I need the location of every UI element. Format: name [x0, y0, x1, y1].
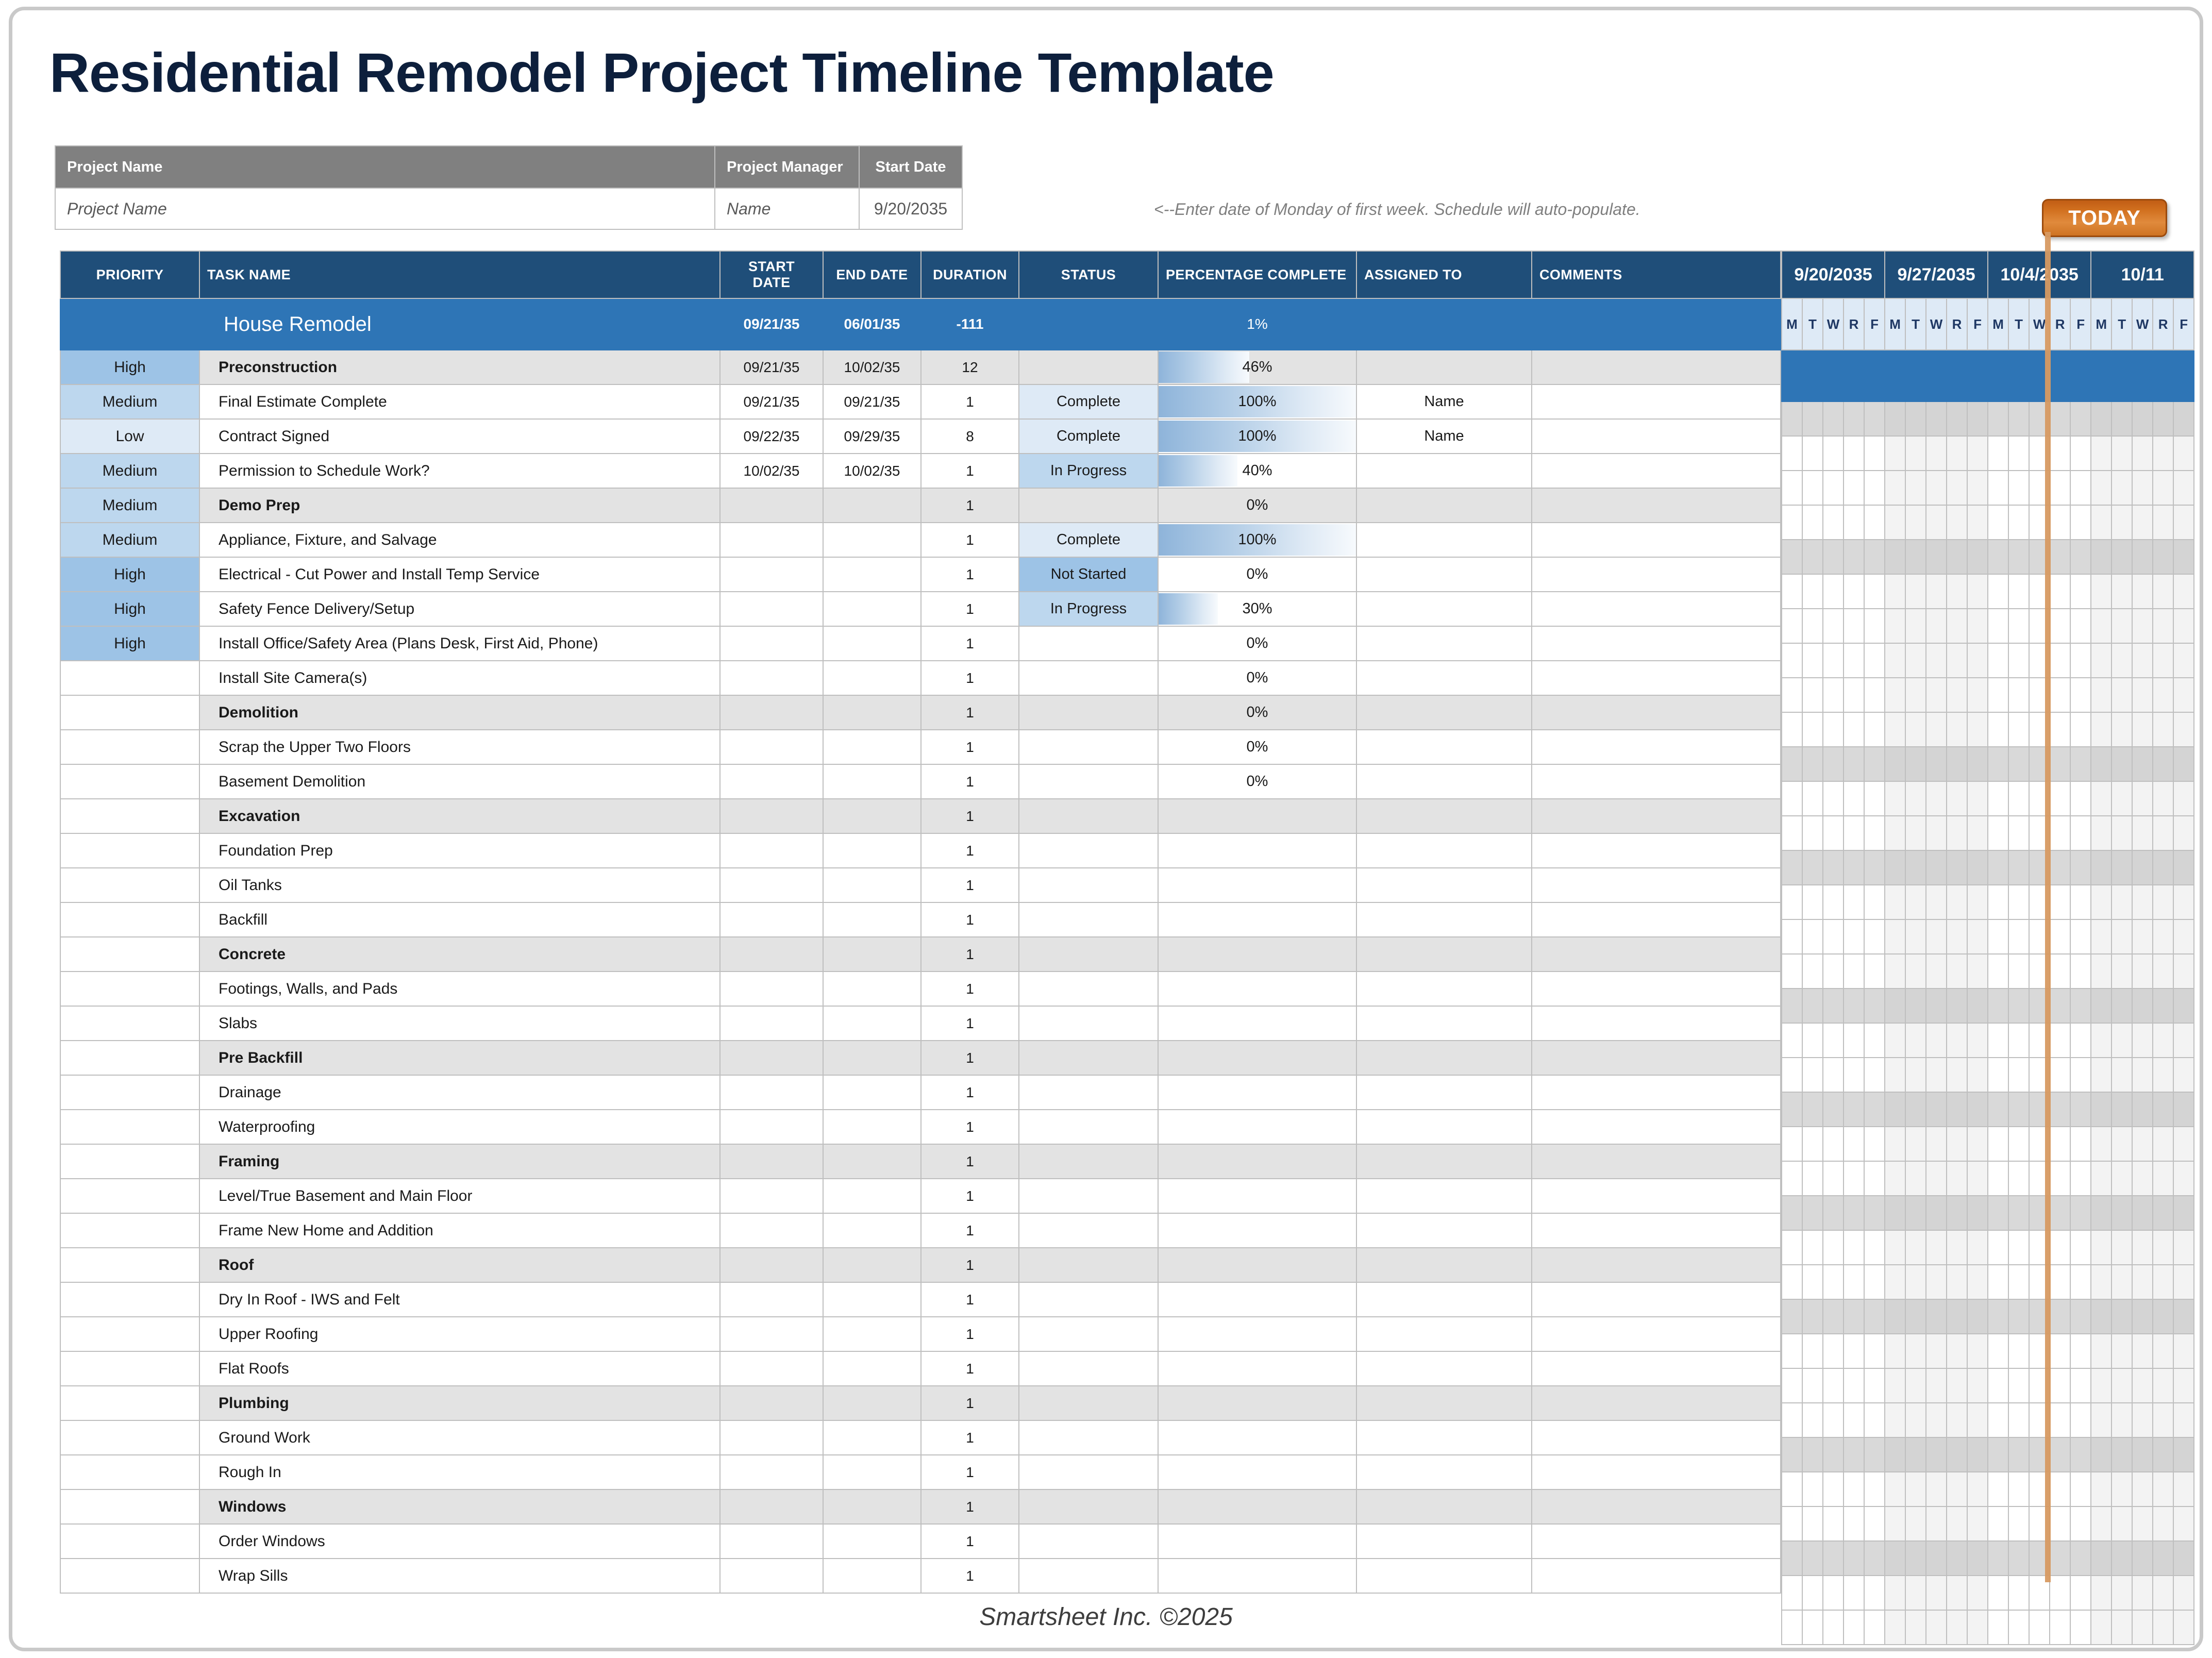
gantt-row[interactable]	[1782, 885, 2194, 919]
cell-percentage-complete[interactable]	[1158, 1248, 1356, 1282]
gantt-cell[interactable]	[2153, 1368, 2173, 1403]
gantt-cell[interactable]	[1905, 1058, 1926, 1092]
gantt-cell[interactable]	[1905, 712, 1926, 747]
cell-priority[interactable]	[60, 972, 199, 1006]
gantt-cell[interactable]	[2029, 954, 2050, 989]
gantt-cell[interactable]	[1885, 954, 1905, 989]
gantt-cell[interactable]	[2112, 1058, 2132, 1092]
gantt-cell[interactable]	[1844, 1196, 1864, 1230]
cell-end-date[interactable]	[823, 1213, 921, 1248]
cell-duration[interactable]: 1	[921, 1179, 1019, 1213]
gantt-cell[interactable]	[1823, 1506, 1844, 1541]
cell-status[interactable]	[1019, 868, 1158, 902]
gantt-cell[interactable]	[1947, 1334, 1967, 1368]
gantt-cell[interactable]	[1885, 1265, 1905, 1299]
gantt-cell[interactable]	[2008, 643, 2029, 678]
gantt-cell[interactable]	[1782, 436, 1802, 471]
gantt-cell[interactable]	[1864, 1403, 1885, 1437]
cell-duration[interactable]: 1	[921, 523, 1019, 557]
gantt-cell[interactable]	[1844, 471, 1864, 505]
gantt-cell[interactable]	[2132, 1161, 2153, 1196]
cell-status[interactable]	[1019, 350, 1158, 384]
gantt-cell[interactable]	[1885, 1299, 1905, 1334]
cell-percentage-complete[interactable]: 46%	[1158, 350, 1356, 384]
gantt-cell[interactable]	[1782, 885, 1802, 919]
cell-priority[interactable]	[60, 1075, 199, 1110]
gantt-cell[interactable]	[1782, 919, 1802, 954]
gantt-cell[interactable]	[1864, 1437, 1885, 1472]
gantt-cell[interactable]	[2153, 350, 2173, 401]
cell-end-date[interactable]: 10/02/35	[823, 454, 921, 488]
gantt-cell[interactable]	[1926, 1541, 1947, 1576]
gantt-cell[interactable]	[2029, 471, 2050, 505]
gantt-cell[interactable]	[2008, 954, 2029, 989]
gantt-cell[interactable]	[2132, 1472, 2153, 1506]
gantt-cell[interactable]	[2050, 350, 2070, 401]
cell-percentage-complete[interactable]	[1158, 1041, 1356, 1075]
gantt-cell[interactable]	[2173, 574, 2194, 609]
gantt-cell[interactable]	[1967, 1196, 1988, 1230]
gantt-cell[interactable]	[1926, 678, 1947, 712]
cell-assigned-to[interactable]	[1356, 937, 1532, 972]
gantt-cell[interactable]	[1802, 989, 1823, 1023]
cell-assigned-to[interactable]	[1356, 488, 1532, 523]
gantt-cell[interactable]	[1782, 954, 1802, 989]
gantt-cell[interactable]	[1967, 678, 1988, 712]
gantt-cell[interactable]	[1844, 574, 1864, 609]
gantt-cell[interactable]	[1988, 1092, 2008, 1127]
gantt-cell[interactable]	[1947, 471, 1967, 505]
gantt-cell[interactable]	[2132, 1230, 2153, 1265]
cell-percentage-complete[interactable]	[1158, 1006, 1356, 1041]
gantt-cell[interactable]	[1967, 1437, 1988, 1472]
gantt-cell[interactable]	[1926, 850, 1947, 885]
section-row[interactable]: Demolition10%	[60, 695, 1781, 730]
gantt-cell[interactable]	[1905, 1472, 1926, 1506]
gantt-cell[interactable]	[1823, 954, 1844, 989]
gantt-cell[interactable]	[2132, 919, 2153, 954]
gantt-cell[interactable]	[2070, 712, 2091, 747]
gantt-cell[interactable]	[1926, 1299, 1947, 1334]
cell-percentage-complete[interactable]: 100%	[1158, 384, 1356, 419]
gantt-cell[interactable]	[2050, 1334, 2070, 1368]
cell-duration[interactable]: 1	[921, 592, 1019, 626]
gantt-cell[interactable]	[2091, 1368, 2112, 1403]
gantt-row[interactable]	[1782, 1161, 2194, 1196]
gantt-cell[interactable]	[2029, 540, 2050, 574]
gantt-cell[interactable]	[2091, 401, 2112, 436]
gantt-cell[interactable]	[1864, 1161, 1885, 1196]
gantt-cell[interactable]	[2173, 1127, 2194, 1161]
cell-task-name[interactable]: Upper Roofing	[199, 1317, 720, 1351]
start-date-input[interactable]: 9/20/2035	[859, 188, 962, 229]
cell-status[interactable]	[1019, 1006, 1158, 1041]
cell-start-date[interactable]	[720, 1248, 823, 1282]
gantt-cell[interactable]	[1864, 1230, 1885, 1265]
cell-assigned-to[interactable]	[1356, 1317, 1532, 1351]
cell-task-name[interactable]: Install Office/Safety Area (Plans Desk, …	[199, 626, 720, 661]
gantt-cell[interactable]	[1823, 1437, 1844, 1472]
gantt-cell[interactable]	[1926, 712, 1947, 747]
gantt-cell[interactable]	[2153, 505, 2173, 540]
cell-assigned-to[interactable]	[1356, 972, 1532, 1006]
gantt-cell[interactable]	[1967, 850, 1988, 885]
cell-percentage-complete[interactable]	[1158, 972, 1356, 1006]
gantt-cell[interactable]	[1864, 1506, 1885, 1541]
gantt-cell[interactable]	[2050, 1092, 2070, 1127]
gantt-cell[interactable]	[1864, 401, 1885, 436]
cell-task-name[interactable]: Drainage	[199, 1075, 720, 1110]
gantt-cell[interactable]	[2008, 1265, 2029, 1299]
gantt-cell[interactable]	[1864, 1092, 1885, 1127]
gantt-cell[interactable]	[1782, 816, 1802, 850]
gantt-cell[interactable]	[1967, 989, 1988, 1023]
gantt-cell[interactable]	[1926, 609, 1947, 643]
gantt-cell[interactable]	[2050, 1368, 2070, 1403]
gantt-cell[interactable]	[2070, 678, 2091, 712]
gantt-cell[interactable]	[2050, 850, 2070, 885]
gantt-cell[interactable]	[2132, 1092, 2153, 1127]
gantt-cell[interactable]	[1947, 919, 1967, 954]
cell-priority[interactable]	[60, 1351, 199, 1386]
gantt-cell[interactable]	[1782, 747, 1802, 781]
gantt-cell[interactable]	[1988, 747, 2008, 781]
gantt-row[interactable]	[1782, 1437, 2194, 1472]
gantt-cell[interactable]	[2029, 850, 2050, 885]
gantt-cell[interactable]	[1947, 1023, 1967, 1058]
gantt-cell[interactable]	[1947, 1368, 1967, 1403]
gantt-cell[interactable]	[1947, 747, 1967, 781]
cell-task-name[interactable]: Roof	[199, 1248, 720, 1282]
gantt-cell[interactable]	[2029, 1506, 2050, 1541]
gantt-cell[interactable]	[1926, 1058, 1947, 1092]
gantt-cell[interactable]	[2029, 350, 2050, 401]
gantt-cell[interactable]	[1885, 885, 1905, 919]
gantt-cell[interactable]	[1782, 1472, 1802, 1506]
gantt-cell[interactable]	[2132, 781, 2153, 816]
gantt-cell[interactable]	[1802, 1299, 1823, 1334]
cell-percentage-complete[interactable]	[1158, 1420, 1356, 1455]
gantt-cell[interactable]	[2050, 919, 2070, 954]
gantt-cell[interactable]	[2112, 643, 2132, 678]
gantt-cell[interactable]	[1905, 471, 1926, 505]
cell-assigned-to[interactable]	[1356, 902, 1532, 937]
gantt-cell[interactable]	[1844, 1472, 1864, 1506]
gantt-cell[interactable]	[1926, 1437, 1947, 1472]
table-row[interactable]: Scrap the Upper Two Floors10%	[60, 730, 1781, 764]
cell-duration[interactable]: 1	[921, 902, 1019, 937]
gantt-cell[interactable]	[1782, 1265, 1802, 1299]
gantt-cell[interactable]	[1864, 747, 1885, 781]
cell-comments[interactable]	[1532, 972, 1781, 1006]
cell-percentage-complete[interactable]	[1158, 902, 1356, 937]
gantt-row[interactable]	[1782, 1403, 2194, 1437]
cell-status[interactable]	[1019, 1420, 1158, 1455]
gantt-cell[interactable]	[1823, 712, 1844, 747]
cell-status[interactable]: In Progress	[1019, 454, 1158, 488]
gantt-cell[interactable]	[1905, 1127, 1926, 1161]
gantt-cell[interactable]	[2070, 350, 2091, 401]
gantt-cell[interactable]	[2008, 1058, 2029, 1092]
cell-duration[interactable]: 1	[921, 1144, 1019, 1179]
cell-start-date[interactable]: 09/21/35	[720, 298, 823, 350]
gantt-cell[interactable]	[2050, 1058, 2070, 1092]
gantt-cell[interactable]	[2050, 1196, 2070, 1230]
gantt-cell[interactable]	[1988, 1230, 2008, 1265]
cell-start-date[interactable]	[720, 1006, 823, 1041]
gantt-cell[interactable]	[1823, 781, 1844, 816]
gantt-cell[interactable]	[1967, 1265, 1988, 1299]
gantt-cell[interactable]	[2112, 471, 2132, 505]
cell-assigned-to[interactable]	[1356, 1248, 1532, 1282]
gantt-cell[interactable]	[1823, 1092, 1844, 1127]
table-row[interactable]: LowContract Signed09/22/3509/29/358Compl…	[60, 419, 1781, 454]
gantt-cell[interactable]	[2112, 1023, 2132, 1058]
cell-priority[interactable]	[60, 1110, 199, 1144]
gantt-row[interactable]	[1782, 1058, 2194, 1092]
cell-status[interactable]	[1019, 764, 1158, 799]
cell-priority[interactable]	[60, 902, 199, 937]
gantt-cell[interactable]	[1885, 643, 1905, 678]
gantt-cell[interactable]	[2112, 1541, 2132, 1576]
gantt-cell[interactable]	[1905, 574, 1926, 609]
gantt-cell[interactable]	[2091, 540, 2112, 574]
table-row[interactable]: Foundation Prep1	[60, 833, 1781, 868]
gantt-cell[interactable]	[2050, 712, 2070, 747]
gantt-cell[interactable]	[2008, 885, 2029, 919]
cell-task-name[interactable]: House Remodel	[199, 298, 720, 350]
gantt-cell[interactable]	[1885, 540, 1905, 574]
gantt-cell[interactable]	[2132, 712, 2153, 747]
gantt-cell[interactable]	[2091, 678, 2112, 712]
gantt-cell[interactable]	[1802, 1437, 1823, 1472]
gantt-cell[interactable]	[1885, 401, 1905, 436]
cell-end-date[interactable]	[823, 1282, 921, 1317]
gantt-cell[interactable]	[2153, 1023, 2173, 1058]
gantt-cell[interactable]	[2132, 1196, 2153, 1230]
gantt-cell[interactable]	[1844, 1127, 1864, 1161]
gantt-cell[interactable]	[2112, 1506, 2132, 1541]
cell-end-date[interactable]	[823, 1041, 921, 1075]
cell-task-name[interactable]: Excavation	[199, 799, 720, 833]
gantt-cell[interactable]	[2173, 540, 2194, 574]
cell-priority[interactable]	[60, 1006, 199, 1041]
cell-end-date[interactable]: 09/21/35	[823, 384, 921, 419]
gantt-cell[interactable]	[2029, 747, 2050, 781]
gantt-cell[interactable]	[2070, 643, 2091, 678]
cell-comments[interactable]	[1532, 384, 1781, 419]
gantt-cell[interactable]	[1802, 1265, 1823, 1299]
gantt-cell[interactable]	[1905, 1092, 1926, 1127]
cell-task-name[interactable]: Footings, Walls, and Pads	[199, 972, 720, 1006]
gantt-cell[interactable]	[1782, 1023, 1802, 1058]
gantt-cell[interactable]	[1926, 1092, 1947, 1127]
cell-percentage-complete[interactable]: 0%	[1158, 764, 1356, 799]
cell-percentage-complete[interactable]: 0%	[1158, 695, 1356, 730]
gantt-cell[interactable]	[1967, 505, 1988, 540]
gantt-cell[interactable]	[1823, 1058, 1844, 1092]
gantt-cell[interactable]	[2029, 643, 2050, 678]
gantt-cell[interactable]	[2091, 885, 2112, 919]
gantt-cell[interactable]	[2173, 1334, 2194, 1368]
gantt-cell[interactable]	[1967, 401, 1988, 436]
gantt-cell[interactable]	[1885, 350, 1905, 401]
gantt-cell[interactable]	[1926, 1127, 1947, 1161]
gantt-cell[interactable]	[1782, 712, 1802, 747]
cell-assigned-to[interactable]	[1356, 1420, 1532, 1455]
cell-end-date[interactable]	[823, 1524, 921, 1559]
cell-task-name[interactable]: Basement Demolition	[199, 764, 720, 799]
gantt-cell[interactable]	[1864, 574, 1885, 609]
today-flag-button[interactable]: TODAY	[2042, 199, 2167, 237]
gantt-cell[interactable]	[2050, 540, 2070, 574]
gantt-cell[interactable]	[1885, 678, 1905, 712]
table-row[interactable]: HighSafety Fence Delivery/Setup1In Progr…	[60, 592, 1781, 626]
gantt-cell[interactable]	[1782, 401, 1802, 436]
cell-percentage-complete[interactable]	[1158, 799, 1356, 833]
gantt-cell[interactable]	[1823, 436, 1844, 471]
cell-duration[interactable]: 1	[921, 1559, 1019, 1593]
gantt-cell[interactable]	[2132, 643, 2153, 678]
gantt-cell[interactable]	[1844, 1506, 1864, 1541]
cell-priority[interactable]	[60, 1179, 199, 1213]
gantt-row[interactable]	[1782, 747, 2194, 781]
gantt-row[interactable]	[1782, 471, 2194, 505]
gantt-cell[interactable]	[1802, 781, 1823, 816]
gantt-cell[interactable]	[2029, 1023, 2050, 1058]
cell-status[interactable]	[1019, 1559, 1158, 1593]
gantt-cell[interactable]	[1802, 747, 1823, 781]
cell-priority[interactable]	[60, 1213, 199, 1248]
cell-duration[interactable]: 1	[921, 1386, 1019, 1420]
gantt-cell[interactable]	[1864, 436, 1885, 471]
gantt-cell[interactable]	[1823, 1541, 1844, 1576]
gantt-row[interactable]	[1782, 1230, 2194, 1265]
gantt-cell[interactable]	[1926, 505, 1947, 540]
col-header-percentage[interactable]: PERCENTAGE COMPLETE	[1158, 251, 1356, 298]
cell-assigned-to[interactable]	[1356, 1041, 1532, 1075]
gantt-row[interactable]	[1782, 401, 2194, 436]
gantt-cell[interactable]	[1885, 505, 1905, 540]
gantt-cell[interactable]	[1967, 954, 1988, 989]
gantt-cell[interactable]	[1885, 1230, 1905, 1265]
cell-status[interactable]	[1019, 1144, 1158, 1179]
col-header-status[interactable]: STATUS	[1019, 251, 1158, 298]
gantt-cell[interactable]	[1782, 1506, 1802, 1541]
cell-priority[interactable]	[60, 1489, 199, 1524]
gantt-cell[interactable]	[2112, 989, 2132, 1023]
gantt-cell[interactable]	[2112, 1368, 2132, 1403]
gantt-cell[interactable]	[2050, 609, 2070, 643]
gantt-cell[interactable]	[2070, 816, 2091, 850]
gantt-cell[interactable]	[1844, 954, 1864, 989]
gantt-cell[interactable]	[1782, 1092, 1802, 1127]
cell-assigned-to[interactable]	[1356, 1559, 1532, 1593]
gantt-cell[interactable]	[2173, 1196, 2194, 1230]
gantt-cell[interactable]	[1864, 850, 1885, 885]
gantt-cell[interactable]	[1988, 989, 2008, 1023]
gantt-cell[interactable]	[2070, 919, 2091, 954]
gantt-cell[interactable]	[1844, 1299, 1864, 1334]
gantt-cell[interactable]	[2153, 1161, 2173, 1196]
gantt-cell[interactable]	[2008, 747, 2029, 781]
gantt-cell[interactable]	[1947, 401, 1967, 436]
gantt-cell[interactable]	[2112, 1472, 2132, 1506]
gantt-cell[interactable]	[1947, 1265, 1967, 1299]
table-row[interactable]: Ground Work1	[60, 1420, 1781, 1455]
gantt-cell[interactable]	[1926, 1230, 1947, 1265]
cell-comments[interactable]	[1532, 298, 1781, 350]
gantt-cell[interactable]	[1926, 540, 1947, 574]
gantt-cell[interactable]	[1947, 609, 1967, 643]
cell-status[interactable]	[1019, 1041, 1158, 1075]
gantt-cell[interactable]	[2173, 643, 2194, 678]
gantt-cell[interactable]	[1926, 436, 1947, 471]
gantt-cell[interactable]	[1905, 1196, 1926, 1230]
cell-end-date[interactable]	[823, 488, 921, 523]
gantt-cell[interactable]	[1905, 885, 1926, 919]
gantt-cell[interactable]	[2173, 1506, 2194, 1541]
gantt-cell[interactable]	[1823, 1265, 1844, 1299]
gantt-cell[interactable]	[1885, 989, 1905, 1023]
gantt-row[interactable]	[1782, 1299, 2194, 1334]
cell-assigned-to[interactable]	[1356, 1351, 1532, 1386]
cell-priority[interactable]	[60, 868, 199, 902]
gantt-cell[interactable]	[2029, 1127, 2050, 1161]
gantt-cell[interactable]	[1823, 609, 1844, 643]
cell-task-name[interactable]: Order Windows	[199, 1524, 720, 1559]
gantt-cell[interactable]	[2029, 1334, 2050, 1368]
cell-comments[interactable]	[1532, 1075, 1781, 1110]
gantt-cell[interactable]	[1905, 1368, 1926, 1403]
gantt-row[interactable]	[1782, 678, 2194, 712]
gantt-cell[interactable]	[1967, 574, 1988, 609]
gantt-cell[interactable]	[2132, 1023, 2153, 1058]
gantt-cell[interactable]	[2070, 401, 2091, 436]
gantt-cell[interactable]	[2153, 989, 2173, 1023]
table-row[interactable]: Flat Roofs1	[60, 1351, 1781, 1386]
gantt-cell[interactable]	[2112, 1230, 2132, 1265]
cell-end-date[interactable]	[823, 1489, 921, 1524]
cell-end-date[interactable]	[823, 972, 921, 1006]
gantt-cell[interactable]	[1885, 1472, 1905, 1506]
gantt-cell[interactable]	[2070, 505, 2091, 540]
gantt-cell[interactable]	[2050, 1127, 2070, 1161]
cell-start-date[interactable]: 09/21/35	[720, 350, 823, 384]
gantt-cell[interactable]	[1926, 1023, 1947, 1058]
cell-comments[interactable]	[1532, 730, 1781, 764]
gantt-cell[interactable]	[2153, 816, 2173, 850]
gantt-cell[interactable]	[2029, 816, 2050, 850]
gantt-cell[interactable]	[2091, 350, 2112, 401]
table-row[interactable]: Order Windows1	[60, 1524, 1781, 1559]
gantt-cell[interactable]	[2008, 1127, 2029, 1161]
cell-priority[interactable]	[60, 833, 199, 868]
gantt-row[interactable]	[1782, 609, 2194, 643]
gantt-cell[interactable]	[1782, 643, 1802, 678]
gantt-cell[interactable]	[2112, 540, 2132, 574]
gantt-cell[interactable]	[1864, 1368, 1885, 1403]
gantt-cell[interactable]	[1947, 989, 1967, 1023]
gantt-cell[interactable]	[1988, 505, 2008, 540]
gantt-cell[interactable]	[2153, 574, 2173, 609]
gantt-cell[interactable]	[1844, 1437, 1864, 1472]
gantt-cell[interactable]	[2070, 574, 2091, 609]
cell-task-name[interactable]: Rough In	[199, 1455, 720, 1489]
gantt-cell[interactable]	[1864, 1058, 1885, 1092]
cell-comments[interactable]	[1532, 1559, 1781, 1593]
gantt-cell[interactable]	[2050, 643, 2070, 678]
